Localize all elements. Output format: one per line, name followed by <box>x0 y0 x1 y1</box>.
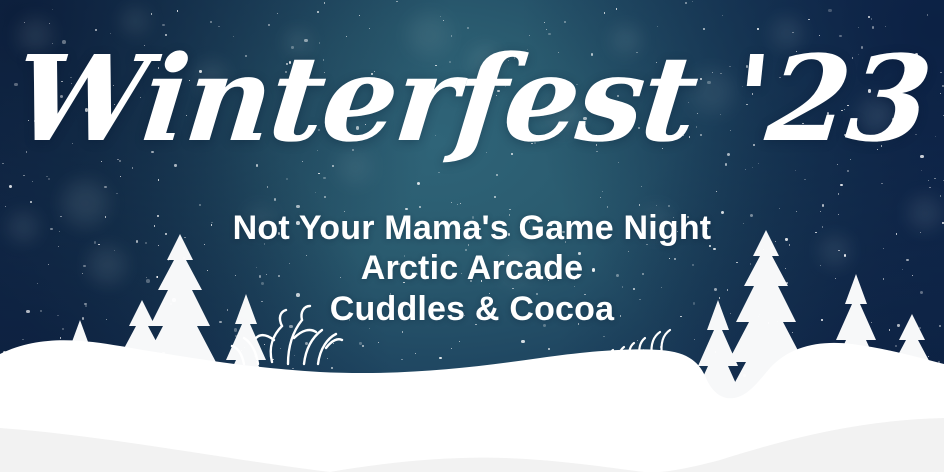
winterfest-banner: Winterfest '23 Not Your Mama's Game Nigh… <box>0 0 944 472</box>
page-title: Winterfest '23 <box>0 40 944 158</box>
snow-ground-and-trees <box>0 222 944 472</box>
